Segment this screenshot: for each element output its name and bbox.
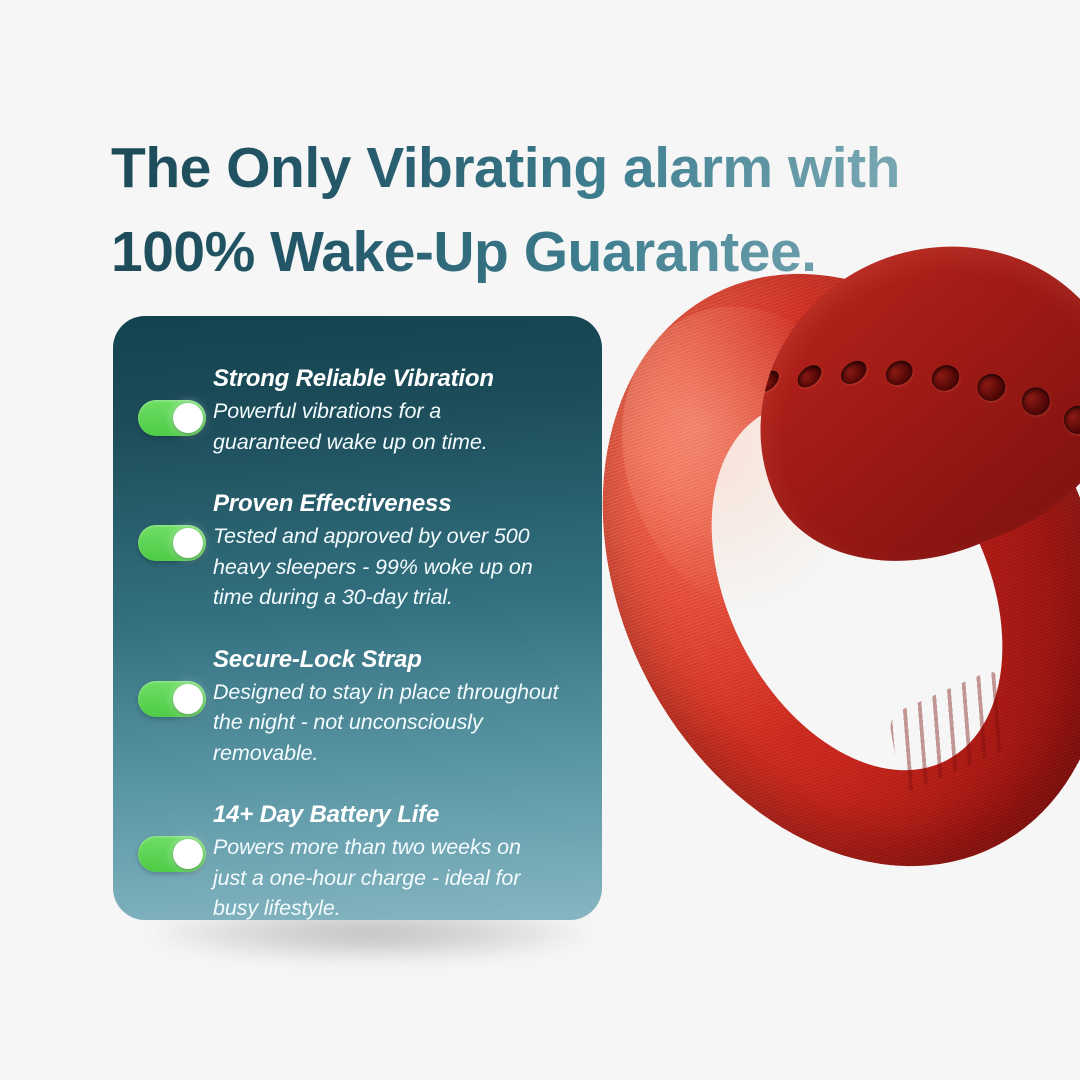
product-image-wristband: [600, 240, 1080, 940]
strap-hole: [973, 370, 1009, 406]
toggle-switch-battery-life[interactable]: [138, 836, 206, 872]
toggle-column: [131, 645, 213, 717]
page-title: The Only Vibrating alarm with 100% Wake-…: [111, 126, 1011, 294]
feature-item: Secure-Lock Strap Designed to stay in pl…: [113, 645, 602, 769]
toggle-knob: [173, 684, 203, 714]
strap-hole: [927, 360, 963, 395]
feature-item: Proven Effectiveness Tested and approved…: [113, 489, 602, 613]
toggle-knob: [173, 403, 203, 433]
wristband-inner-opening: [653, 353, 1061, 819]
toggle-knob: [173, 839, 203, 869]
wristband-highlight: [569, 259, 950, 671]
strap-hole: [753, 367, 783, 396]
strap-hole: [881, 356, 917, 390]
feature-description: Powerful vibrations for a guaranteed wak…: [213, 396, 602, 457]
feature-card: Strong Reliable Vibration Powerful vibra…: [113, 316, 602, 920]
feature-description: Designed to stay in place throughout the…: [213, 677, 602, 769]
feature-text: Strong Reliable Vibration Powerful vibra…: [213, 364, 602, 457]
wristband-grip-ridges: [888, 667, 1012, 795]
toggle-column: [131, 364, 213, 436]
feature-title: 14+ Day Battery Life: [213, 800, 602, 830]
feature-title: Secure-Lock Strap: [213, 645, 602, 675]
strap-hole: [1060, 402, 1080, 438]
feature-item: Strong Reliable Vibration Powerful vibra…: [113, 364, 602, 457]
strap-hole: [837, 356, 871, 389]
toggle-switch-secure-lock-strap[interactable]: [138, 681, 206, 717]
toggle-knob: [173, 528, 203, 558]
feature-text: Secure-Lock Strap Designed to stay in pl…: [213, 645, 602, 769]
feature-text: 14+ Day Battery Life Powers more than tw…: [213, 800, 602, 924]
feature-title: Proven Effectiveness: [213, 489, 602, 519]
strap-hole: [793, 361, 825, 392]
feature-description: Tested and approved by over 500 heavy sl…: [213, 521, 602, 613]
toggle-column: [131, 489, 213, 561]
feature-item: 14+ Day Battery Life Powers more than tw…: [113, 800, 602, 924]
promo-graphic: The Only Vibrating alarm with 100% Wake-…: [0, 0, 1080, 1080]
feature-title: Strong Reliable Vibration: [213, 364, 602, 394]
toggle-switch-proven-effectiveness[interactable]: [138, 525, 206, 561]
toggle-column: [131, 800, 213, 872]
toggle-switch-strong-reliable-vibration[interactable]: [138, 400, 206, 436]
feature-text: Proven Effectiveness Tested and approved…: [213, 489, 602, 613]
strap-hole: [1018, 383, 1054, 419]
feature-description: Powers more than two weeks on just a one…: [213, 832, 602, 924]
